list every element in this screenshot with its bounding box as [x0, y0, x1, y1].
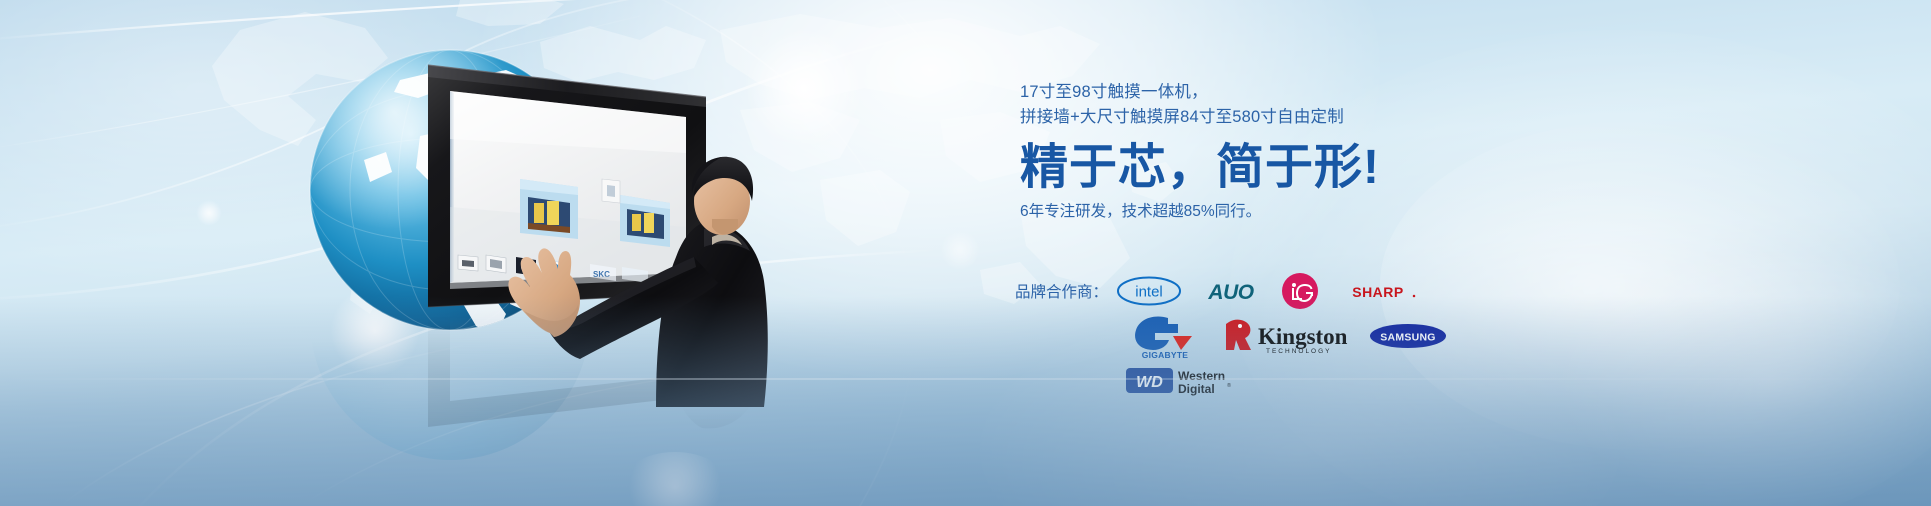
- partner-row-1: 品牌合作商： intel AUO: [1015, 268, 1635, 313]
- headline: 精于芯，简于形!: [1020, 140, 1580, 196]
- cloud-glow-left: [0, 0, 580, 300]
- samsung-logo-icon: SAMSUNG: [1369, 322, 1447, 350]
- promo-banner: SKC: [0, 0, 1931, 506]
- person-touching-screen: [506, 145, 796, 407]
- sparkle-glow-globe-bottom: [330, 286, 420, 376]
- auo-logo-icon: AUO: [1200, 277, 1262, 305]
- light-swoosh-ribbons: [0, 0, 1931, 506]
- sparkle-glow-reflection: [620, 452, 730, 506]
- display-reflection: [424, 315, 710, 435]
- partner-row-3: WD Western Digital ®: [1015, 358, 1635, 403]
- svg-text:Kingston: Kingston: [1258, 324, 1348, 349]
- lg-logo-icon: [1280, 271, 1320, 311]
- sparkle-glow-top: [744, 28, 864, 148]
- partner-row-2: GIGABYTE Kingston TECHNOLOGY SAMSUNG: [1015, 313, 1635, 358]
- partners-label: 品牌合作商：: [1015, 280, 1108, 302]
- svg-text:Digital: Digital: [1178, 382, 1215, 396]
- svg-text:SAMSUNG: SAMSUNG: [1380, 331, 1435, 343]
- lead-line-1: 17寸至98寸触摸一体机，: [1020, 80, 1580, 105]
- gigabyte-logo-icon: GIGABYTE: [1125, 313, 1205, 359]
- brand-partners: 品牌合作商： intel AUO: [1015, 268, 1635, 403]
- globe-reflection: [300, 340, 600, 470]
- sharp-logo-icon: SHARP: [1338, 279, 1418, 303]
- svg-text:®: ®: [1227, 382, 1231, 389]
- globe-graphic: [300, 40, 600, 340]
- bottom-shade: [0, 296, 1931, 506]
- svg-text:SHARP: SHARP: [1352, 284, 1404, 300]
- svg-text:TECHNOLOGY: TECHNOLOGY: [1266, 348, 1332, 355]
- svg-text:intel: intel: [1135, 283, 1163, 300]
- sparkle-small-left: [196, 200, 222, 226]
- svg-text:Western: Western: [1178, 369, 1225, 383]
- marketing-copy: 17寸至98寸触摸一体机， 拼接墙+大尺寸触摸屏84寸至580寸自由定制 精于芯…: [1020, 80, 1580, 224]
- lead-line-2: 拼接墙+大尺寸触摸屏84寸至580寸自由定制: [1020, 105, 1580, 130]
- svg-text:WD: WD: [1136, 374, 1163, 391]
- person-reflection: [506, 400, 796, 506]
- intel-logo-icon: intel: [1116, 275, 1182, 307]
- svg-text:SKC: SKC: [593, 270, 610, 279]
- touch-screen-display: SKC: [424, 57, 710, 315]
- horizon-line: [0, 378, 1931, 380]
- sparkle-small-right: [940, 230, 980, 270]
- svg-text:AUO: AUO: [1207, 281, 1253, 304]
- western-digital-logo-icon: WD Western Digital ®: [1125, 361, 1235, 401]
- kingston-logo-icon: Kingston TECHNOLOGY: [1223, 315, 1351, 357]
- subheadline: 6年专注研发，技术超越85%同行。: [1020, 200, 1580, 224]
